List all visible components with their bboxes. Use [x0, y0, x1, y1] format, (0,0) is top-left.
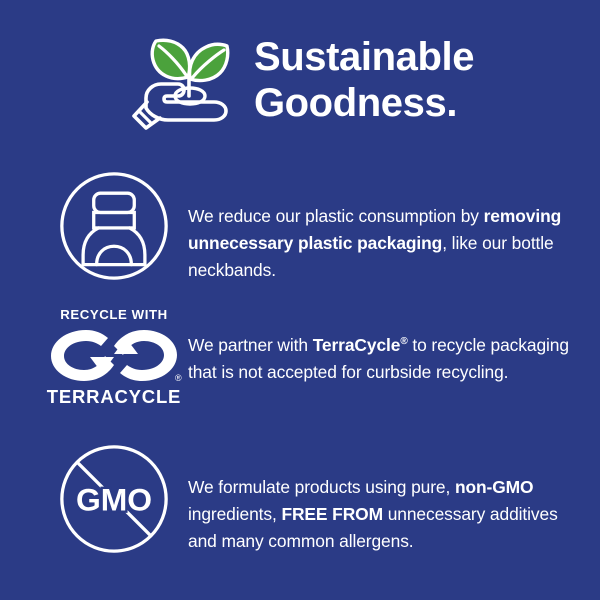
text-fragment: We partner with	[188, 335, 313, 355]
registered-mark: ®	[400, 337, 407, 348]
gmo-label: GMO	[76, 482, 152, 518]
terracycle-bottom-label: TERRACYCLE	[47, 387, 181, 407]
section-gmo-text: We formulate products using pure, non-GM…	[188, 460, 580, 555]
svg-text:®: ®	[175, 373, 182, 383]
page-title: Sustainable Goodness.	[254, 34, 474, 126]
section-gmo: GMO We formulate products using pure, no…	[40, 443, 580, 573]
section-plastic-text: We reduce our plastic consumption by rem…	[188, 187, 580, 284]
poster-header: Sustainable Goodness.	[0, 20, 600, 140]
no-gmo-icon: GMO	[58, 443, 170, 560]
section-terracycle-text: We partner with TerraCycle® to recycle p…	[188, 322, 580, 386]
text-fragment-bold: TerraCycle	[313, 335, 401, 355]
terracycle-top-label: RECYCLE WITH	[60, 307, 168, 322]
text-fragment: We reduce our plastic consumption by	[188, 206, 484, 226]
infinity-arrows-icon: ®	[46, 326, 182, 384]
section-terracycle: RECYCLE WITH ®	[40, 305, 580, 407]
bottle-neckband-icon	[58, 170, 170, 287]
section-terracycle-icon-wrap: RECYCLE WITH ®	[40, 305, 188, 407]
section-gmo-icon-wrap: GMO	[40, 443, 188, 560]
text-fragment-bold: non-GMO	[455, 477, 534, 497]
sustainable-goodness-poster: Sustainable Goodness. We reduce our pl	[0, 0, 600, 600]
hand-holding-sprout-icon	[126, 30, 236, 134]
text-fragment-bold: FREE FROM	[281, 504, 383, 524]
text-fragment: We formulate products using pure,	[188, 477, 455, 497]
text-fragment: ingredients,	[188, 504, 281, 524]
section-plastic: We reduce our plastic consumption by rem…	[40, 170, 580, 302]
terracycle-logo: RECYCLE WITH ®	[44, 305, 184, 407]
section-plastic-icon-wrap	[40, 170, 188, 287]
